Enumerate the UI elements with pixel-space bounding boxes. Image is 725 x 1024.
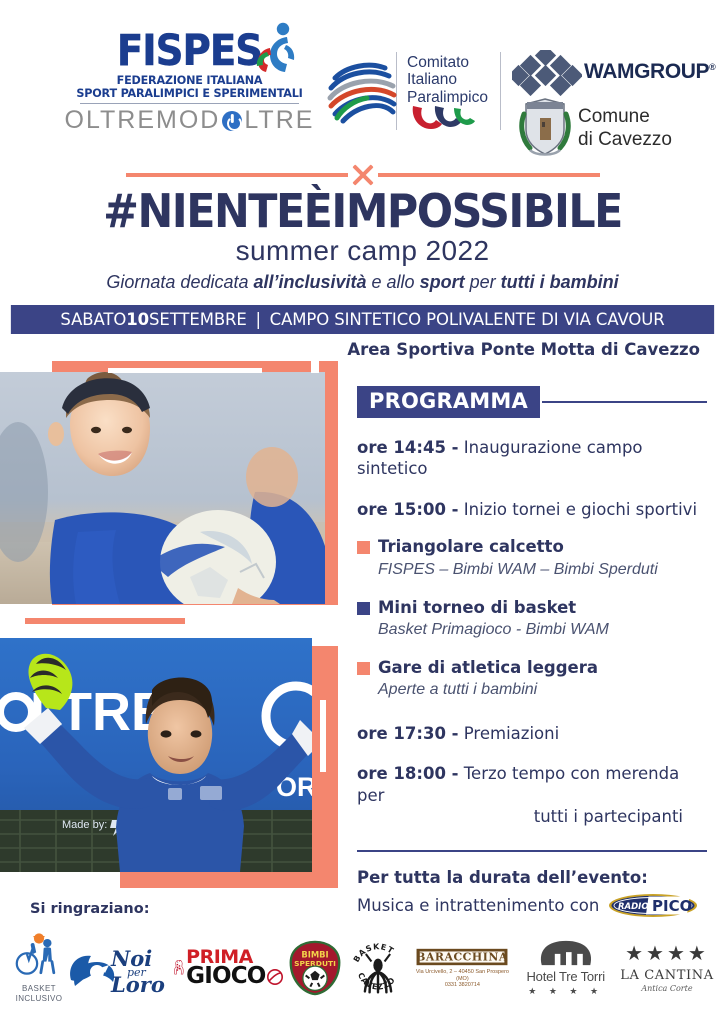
hotel-tre-torri-icon	[536, 939, 596, 967]
poster-root: FISPES FEDERAZIONE ITALIANA SPORT PARALI…	[0, 0, 725, 1024]
activity-3-subtitle: Aperte a tutti i bambini	[378, 679, 598, 701]
sponsor-noi-per-loro: Noi per Loro	[67, 940, 171, 996]
power-icon	[222, 111, 242, 131]
oltremodoltre-tagline: OLTREMOD LTRE	[62, 106, 317, 135]
divider-bar-left	[126, 173, 348, 177]
closing-text: Musica e intrattenimento con	[357, 896, 599, 915]
sponsor-hotel-tre-torri: Hotel Tre Torri ★ ★ ★ ★	[516, 939, 616, 997]
tagline-part-3: per	[465, 272, 501, 292]
svg-text:PICO: PICO	[652, 897, 692, 915]
activity-3-title: Gare di atletica leggera	[378, 658, 598, 679]
page-tagline: Giornata dedicata all’inclusività e allo…	[0, 272, 725, 293]
bi-line1: BASKET	[16, 984, 63, 994]
photo-1-white-accent-bar	[108, 368, 262, 373]
oltre-part-b: LTRE	[244, 106, 314, 135]
basket-cavezzo-icon: BASKET CAVEZZO	[349, 939, 407, 997]
tagline-bold-3: tutti i bambini	[501, 272, 619, 292]
activity-1-title: Triangolare calcetto	[378, 537, 658, 558]
band-day: SABATO	[60, 310, 126, 330]
wamgroup-registered: ®	[709, 62, 715, 72]
sponsor-basket-inclusivo: BASKET INCLUSIVO	[12, 932, 66, 1004]
activity-triangolare-calcetto: Triangolare calcetto FISPES – Bimbi WAM …	[357, 537, 707, 580]
sponsors-row: BASKET INCLUSIVO Noi per Loro	[12, 922, 717, 1014]
program-item-1730-text: Premiazioni	[459, 724, 560, 743]
bimbi-sperduti-icon: BIMBI SPERDUTI	[287, 940, 343, 996]
program-item-1730: ore 17:30 - Premiazioni	[357, 723, 707, 744]
program-item-1800-text2: tutti i partecipanti	[357, 806, 707, 827]
program-divider	[357, 850, 707, 852]
logo-wamgroup: WAMGROUP®	[512, 50, 712, 98]
program-item-1800: ore 18:00 - Terzo tempo con merenda pert…	[357, 763, 707, 827]
cip-globe-icon	[325, 56, 399, 130]
band-month: SETTEMBRE	[149, 310, 247, 330]
baracchina-address: Via Urcivello, 2 – 40450 San Prospero (M…	[410, 969, 514, 990]
closing-title: Per tutta la durata dell’evento:	[357, 868, 707, 887]
page-subtitle: summer camp 2022	[0, 235, 725, 267]
program-header: PROGRAMMA	[357, 386, 707, 418]
band-separator: |	[255, 310, 260, 330]
baracchina-ribbon-icon: BARACCHINA	[412, 947, 512, 967]
sponsor-prima-gioco: PRIMA GIOCO	[173, 945, 283, 991]
closing-row: Musica e intrattenimento con RADIO PICO	[357, 893, 707, 918]
comune-text: Comune di Cavezzo	[578, 106, 672, 152]
lc-stars: ★★★★	[625, 944, 709, 964]
lc-sub: Antica Corte	[641, 984, 692, 993]
logo-fispes: FISPES FEDERAZIONE ITALIANA SPORT PARALI…	[62, 30, 317, 135]
svg-text:RADIO: RADIO	[618, 902, 649, 912]
venue-line: Area Sportiva Ponte Motta di Cavezzo	[0, 340, 700, 359]
comune-line1: Comune	[578, 106, 672, 129]
wamgroup-name: WAMGROUP	[584, 60, 709, 83]
activity-2-subtitle: Basket Primagioco - Bimbi WAM	[378, 619, 609, 641]
prima-gioco-row: PRIMA GIOCO	[173, 945, 283, 991]
program-section: PROGRAMMA ore 14:45 - Inaugurazione camp…	[357, 386, 707, 918]
basket-inclusivo-caption: BASKET INCLUSIVO	[16, 984, 63, 1004]
fispes-runner-icon	[256, 22, 296, 74]
fispes-subtitle: FEDERAZIONE ITALIANA SPORT PARALIMPICI E…	[62, 75, 317, 100]
logo-comune-di-cavezzo: Comune di Cavezzo	[512, 98, 712, 160]
svg-text:Made by:: Made by:	[62, 819, 107, 831]
wam-text-row: WAMGROUP®	[584, 60, 715, 84]
activity-gare-atletica: Gare di atletica leggera Aperte a tutti …	[357, 658, 707, 701]
cip-text: Comitato Italiano Paralimpico	[407, 54, 488, 106]
photo-1-artwork	[0, 372, 325, 604]
sponsor-baracchina: BARACCHINA Via Urcivello, 2 – 40450 San …	[410, 947, 514, 990]
tagline-part-1: Giornata dedicata	[106, 272, 253, 292]
fispes-line2: SPORT PARALIMPICI E SPERIMENTALI	[62, 88, 317, 101]
h3t-stars: ★ ★ ★ ★	[528, 986, 603, 997]
program-item-1445: ore 14:45 - Inaugurazione campo sintetic…	[357, 437, 707, 480]
activity-1-subtitle: FISPES – Bimbi WAM – Bimbi Sperduti	[378, 559, 658, 581]
prima-gioco-horse-icon	[173, 945, 185, 991]
page-title: #NIENTEÈIMPOSSIBILE	[25, 188, 699, 234]
logo-comitato-italiano-paralimpico: Comitato Italiano Paralimpico	[325, 52, 505, 134]
prima-gioco-ball-icon	[267, 969, 283, 985]
activity-marker-navy	[357, 602, 370, 615]
agitos-icon	[409, 102, 475, 134]
photo-boy-goalkeeper: LTRE SPORT Made by:	[0, 638, 312, 872]
npl-loro: Loro	[110, 972, 165, 996]
basket-inclusivo-icon	[14, 932, 64, 982]
bar-line3: 0331 3820714	[410, 982, 514, 989]
photo-1-white-notch	[311, 355, 319, 373]
sponsor-la-cantina: ★★★★ LA CANTINA Antica Corte	[617, 944, 717, 993]
band-date: 10	[126, 310, 149, 330]
prima-gioco-text: PRIMA GIOCO	[186, 949, 282, 988]
fispes-line1: FEDERAZIONE ITALIANA	[62, 75, 317, 88]
pg-line2-wrap: GIOCO	[186, 966, 282, 987]
program-item-1500-time: ore 15:00 -	[357, 500, 459, 519]
sponsors-heading: Si ringraziano:	[30, 901, 150, 917]
photo-girl-with-football	[0, 372, 325, 604]
program-item-1445-time: ore 14:45 -	[357, 438, 459, 457]
tagline-bold-2: sport	[420, 272, 465, 292]
sponsor-bimbi-sperduti: BIMBI SPERDUTI	[284, 940, 346, 996]
photo-2-coral-accent-bar	[25, 618, 185, 624]
tagline-part-2: e allo	[367, 272, 420, 292]
photo-2-white-notch	[320, 700, 326, 772]
activity-marker-coral-2	[357, 662, 370, 675]
pg-line2: GIOCO	[186, 966, 265, 987]
sponsor-basket-cavezzo: BASKET CAVEZZO	[347, 939, 409, 997]
activity-mini-torneo-basket: Mini torneo di basket Basket Primagioco …	[357, 598, 707, 641]
tagline-bold-1: all’inclusività	[253, 272, 366, 292]
program-item-1500-text: Inizio tornei e giochi sportivi	[459, 500, 698, 519]
h3t-name: Hotel Tre Torri	[526, 969, 604, 984]
bar-line2: Via Urcivello, 2 – 40450 San Prospero (M…	[410, 969, 514, 983]
header-logos: FISPES FEDERAZIONE ITALIANA SPORT PARALI…	[0, 22, 725, 142]
fispes-wordmark: FISPES	[117, 26, 262, 76]
program-item-1730-time: ore 17:30 -	[357, 724, 459, 743]
comune-line2: di Cavezzo	[578, 129, 672, 152]
wam-diamonds-icon	[512, 50, 582, 96]
activity-2-title: Mini torneo di basket	[378, 598, 609, 619]
radio-pico-logo: RADIO PICO	[608, 893, 698, 918]
activity-marker-coral-1	[357, 541, 370, 554]
cip-line1: Comitato	[407, 54, 488, 71]
event-date-band: SABATO 10 SETTEMBRE|CAMPO SINTETICO POLI…	[11, 305, 714, 334]
cip-line2: Italiano	[407, 71, 488, 88]
program-item-1500: ore 15:00 - Inizio tornei e giochi sport…	[357, 499, 707, 520]
comune-crest-icon	[516, 96, 574, 160]
baracchina-name: BARACCHINA	[417, 950, 509, 963]
noi-per-loro-icon: Noi per Loro	[67, 940, 171, 996]
program-item-1800-time: ore 18:00 -	[357, 764, 459, 783]
fispes-divider	[80, 103, 299, 104]
program-badge: PROGRAMMA	[357, 386, 540, 418]
bc-line1: BASKET	[352, 942, 396, 964]
fispes-wordmark-wrap: FISPES	[117, 30, 262, 73]
lc-name: LA CANTINA	[620, 968, 713, 983]
oltre-part-a: OLTREMOD	[65, 106, 221, 135]
bi-line2: INCLUSIVO	[16, 994, 63, 1004]
band-place: CAMPO SINTETICO POLIVALENTE DI VIA CAVOU…	[270, 310, 665, 330]
divider-bar-right	[378, 173, 600, 177]
program-header-rule	[542, 401, 707, 404]
photo-2-artwork: LTRE SPORT Made by:	[0, 638, 312, 872]
